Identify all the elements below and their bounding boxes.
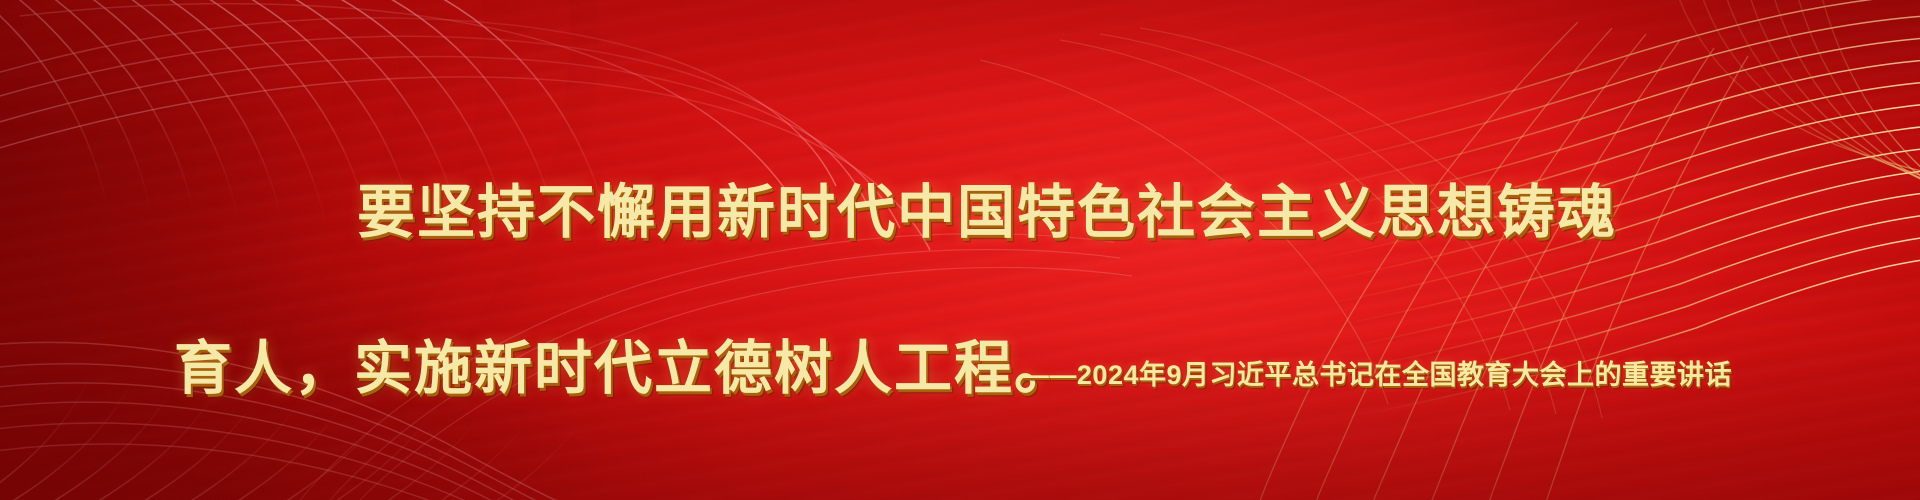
banner-root: 要坚持不懈用新时代中国特色社会主义思想铸魂 育人，实施新时代立德树人工程。 ——… bbox=[0, 0, 1920, 500]
banner-content: 要坚持不懈用新时代中国特色社会主义思想铸魂 育人，实施新时代立德树人工程。 ——… bbox=[0, 0, 1920, 500]
headline-line-1: 要坚持不懈用新时代中国特色社会主义思想铸魂 bbox=[150, 174, 1770, 252]
attribution-text: ——2024年9月习近平总书记在全国教育大会上的重要讲话 bbox=[0, 356, 1920, 394]
headline: 要坚持不懈用新时代中国特色社会主义思想铸魂 育人，实施新时代立德树人工程。 bbox=[0, 96, 1920, 486]
